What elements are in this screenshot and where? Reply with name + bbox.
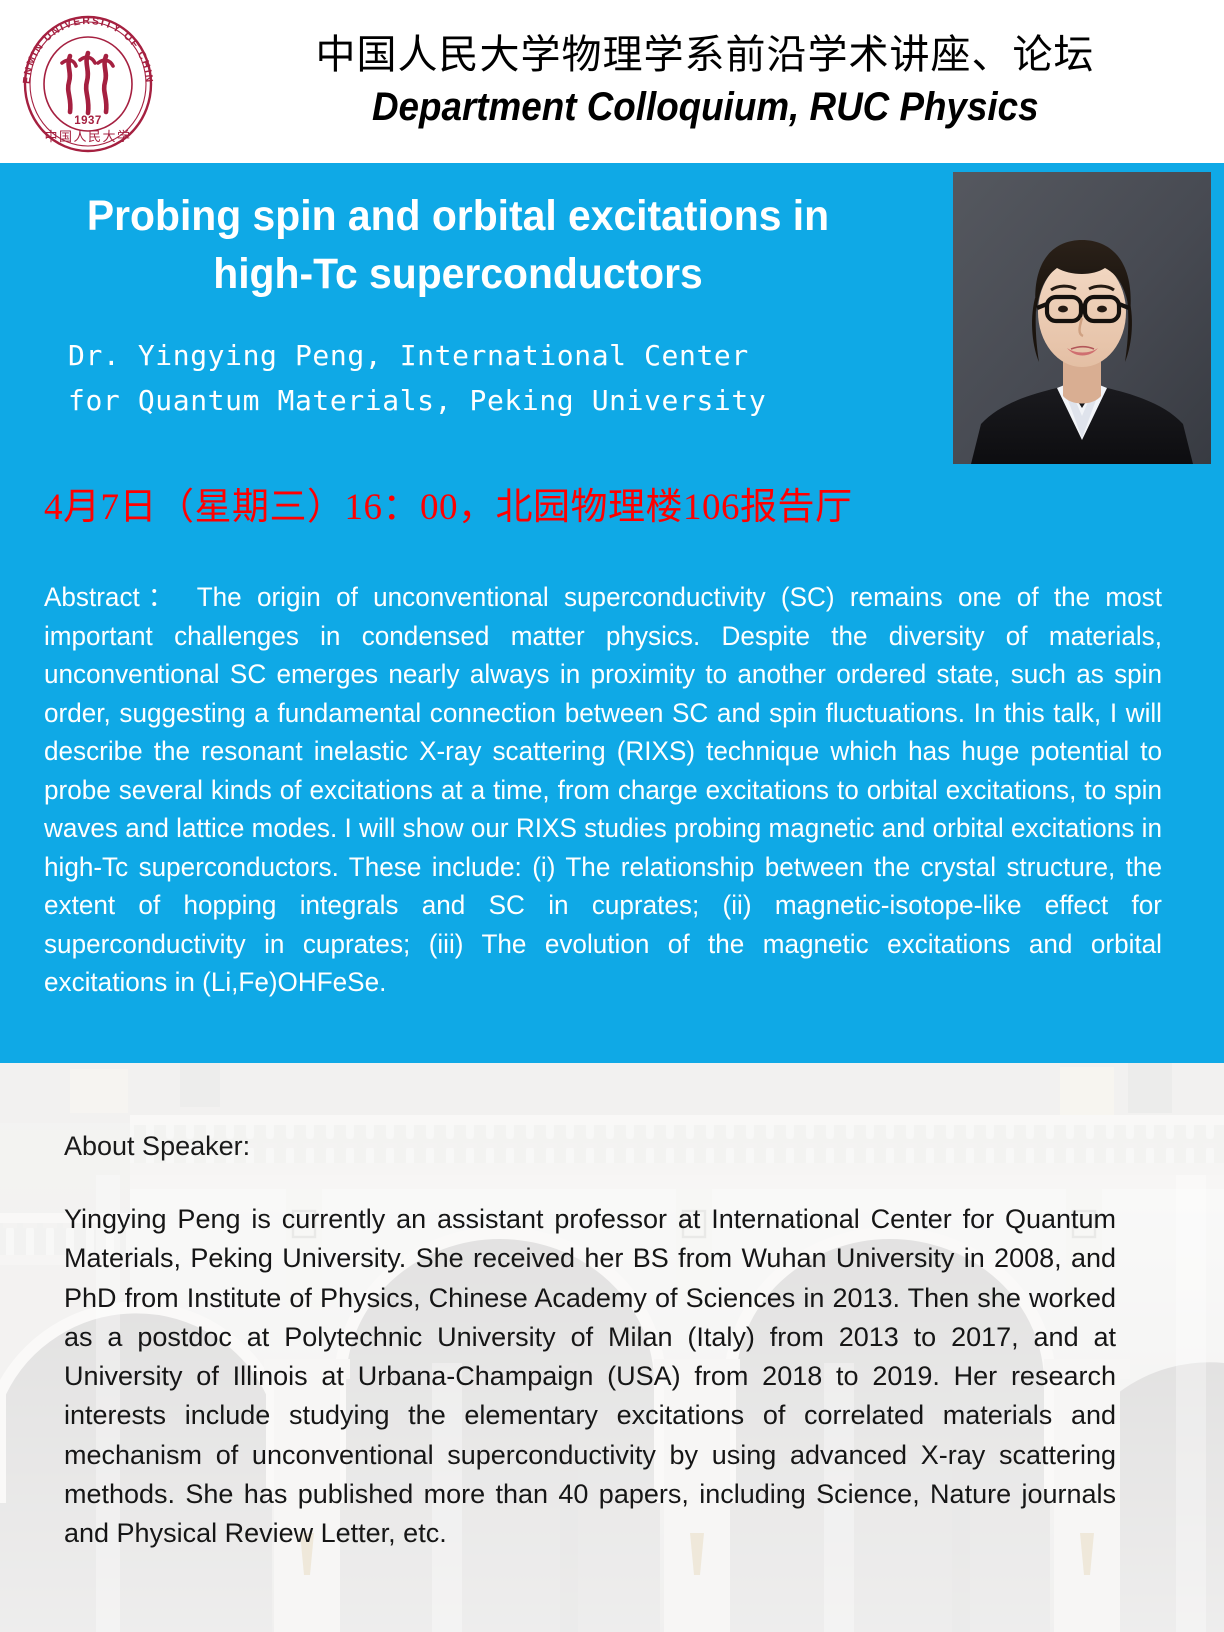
header-title-chinese: 中国人民大学物理学系前沿学术讲座、论坛 — [316, 31, 1095, 78]
speaker-biography: Yingying Peng is currently an assistant … — [64, 1200, 1116, 1554]
svg-text:中国人民大学: 中国人民大学 — [44, 129, 131, 144]
talk-title: Probing spin and orbital excitations in … — [40, 187, 876, 303]
svg-text:RENMIN UNIVERSITY OF CHINA: RENMIN UNIVERSITY OF CHINA — [12, 8, 155, 84]
poster-header: RENMIN UNIVERSITY OF CHINA 1937 中国人民大学 中… — [0, 0, 1224, 163]
speaker-portrait-photo — [953, 172, 1211, 464]
about-speaker-label: About Speaker: — [64, 1131, 250, 1162]
about-speaker-section: About Speaker: Yingying Peng is currentl… — [0, 1063, 1224, 1632]
header-title-block: 中国人民大学物理学系前沿学术讲座、论坛 Department Colloquiu… — [200, 0, 1210, 163]
talk-info-panel: Probing spin and orbital excitations in … — [0, 163, 1224, 1063]
ruc-university-seal-logo: RENMIN UNIVERSITY OF CHINA 1937 中国人民大学 — [12, 8, 164, 158]
talk-datetime-venue: 4月7日（星期三）16：00，北园物理楼106报告厅 — [44, 476, 853, 530]
talk-abstract: Abstract： The origin of unconventional s… — [44, 578, 1162, 1002]
header-title-english: Department Colloquium, RUC Physics — [372, 82, 1039, 132]
talk-speaker-affiliation: Dr. Yingying Peng, International Center … — [68, 333, 948, 424]
svg-text:1937: 1937 — [74, 115, 102, 127]
